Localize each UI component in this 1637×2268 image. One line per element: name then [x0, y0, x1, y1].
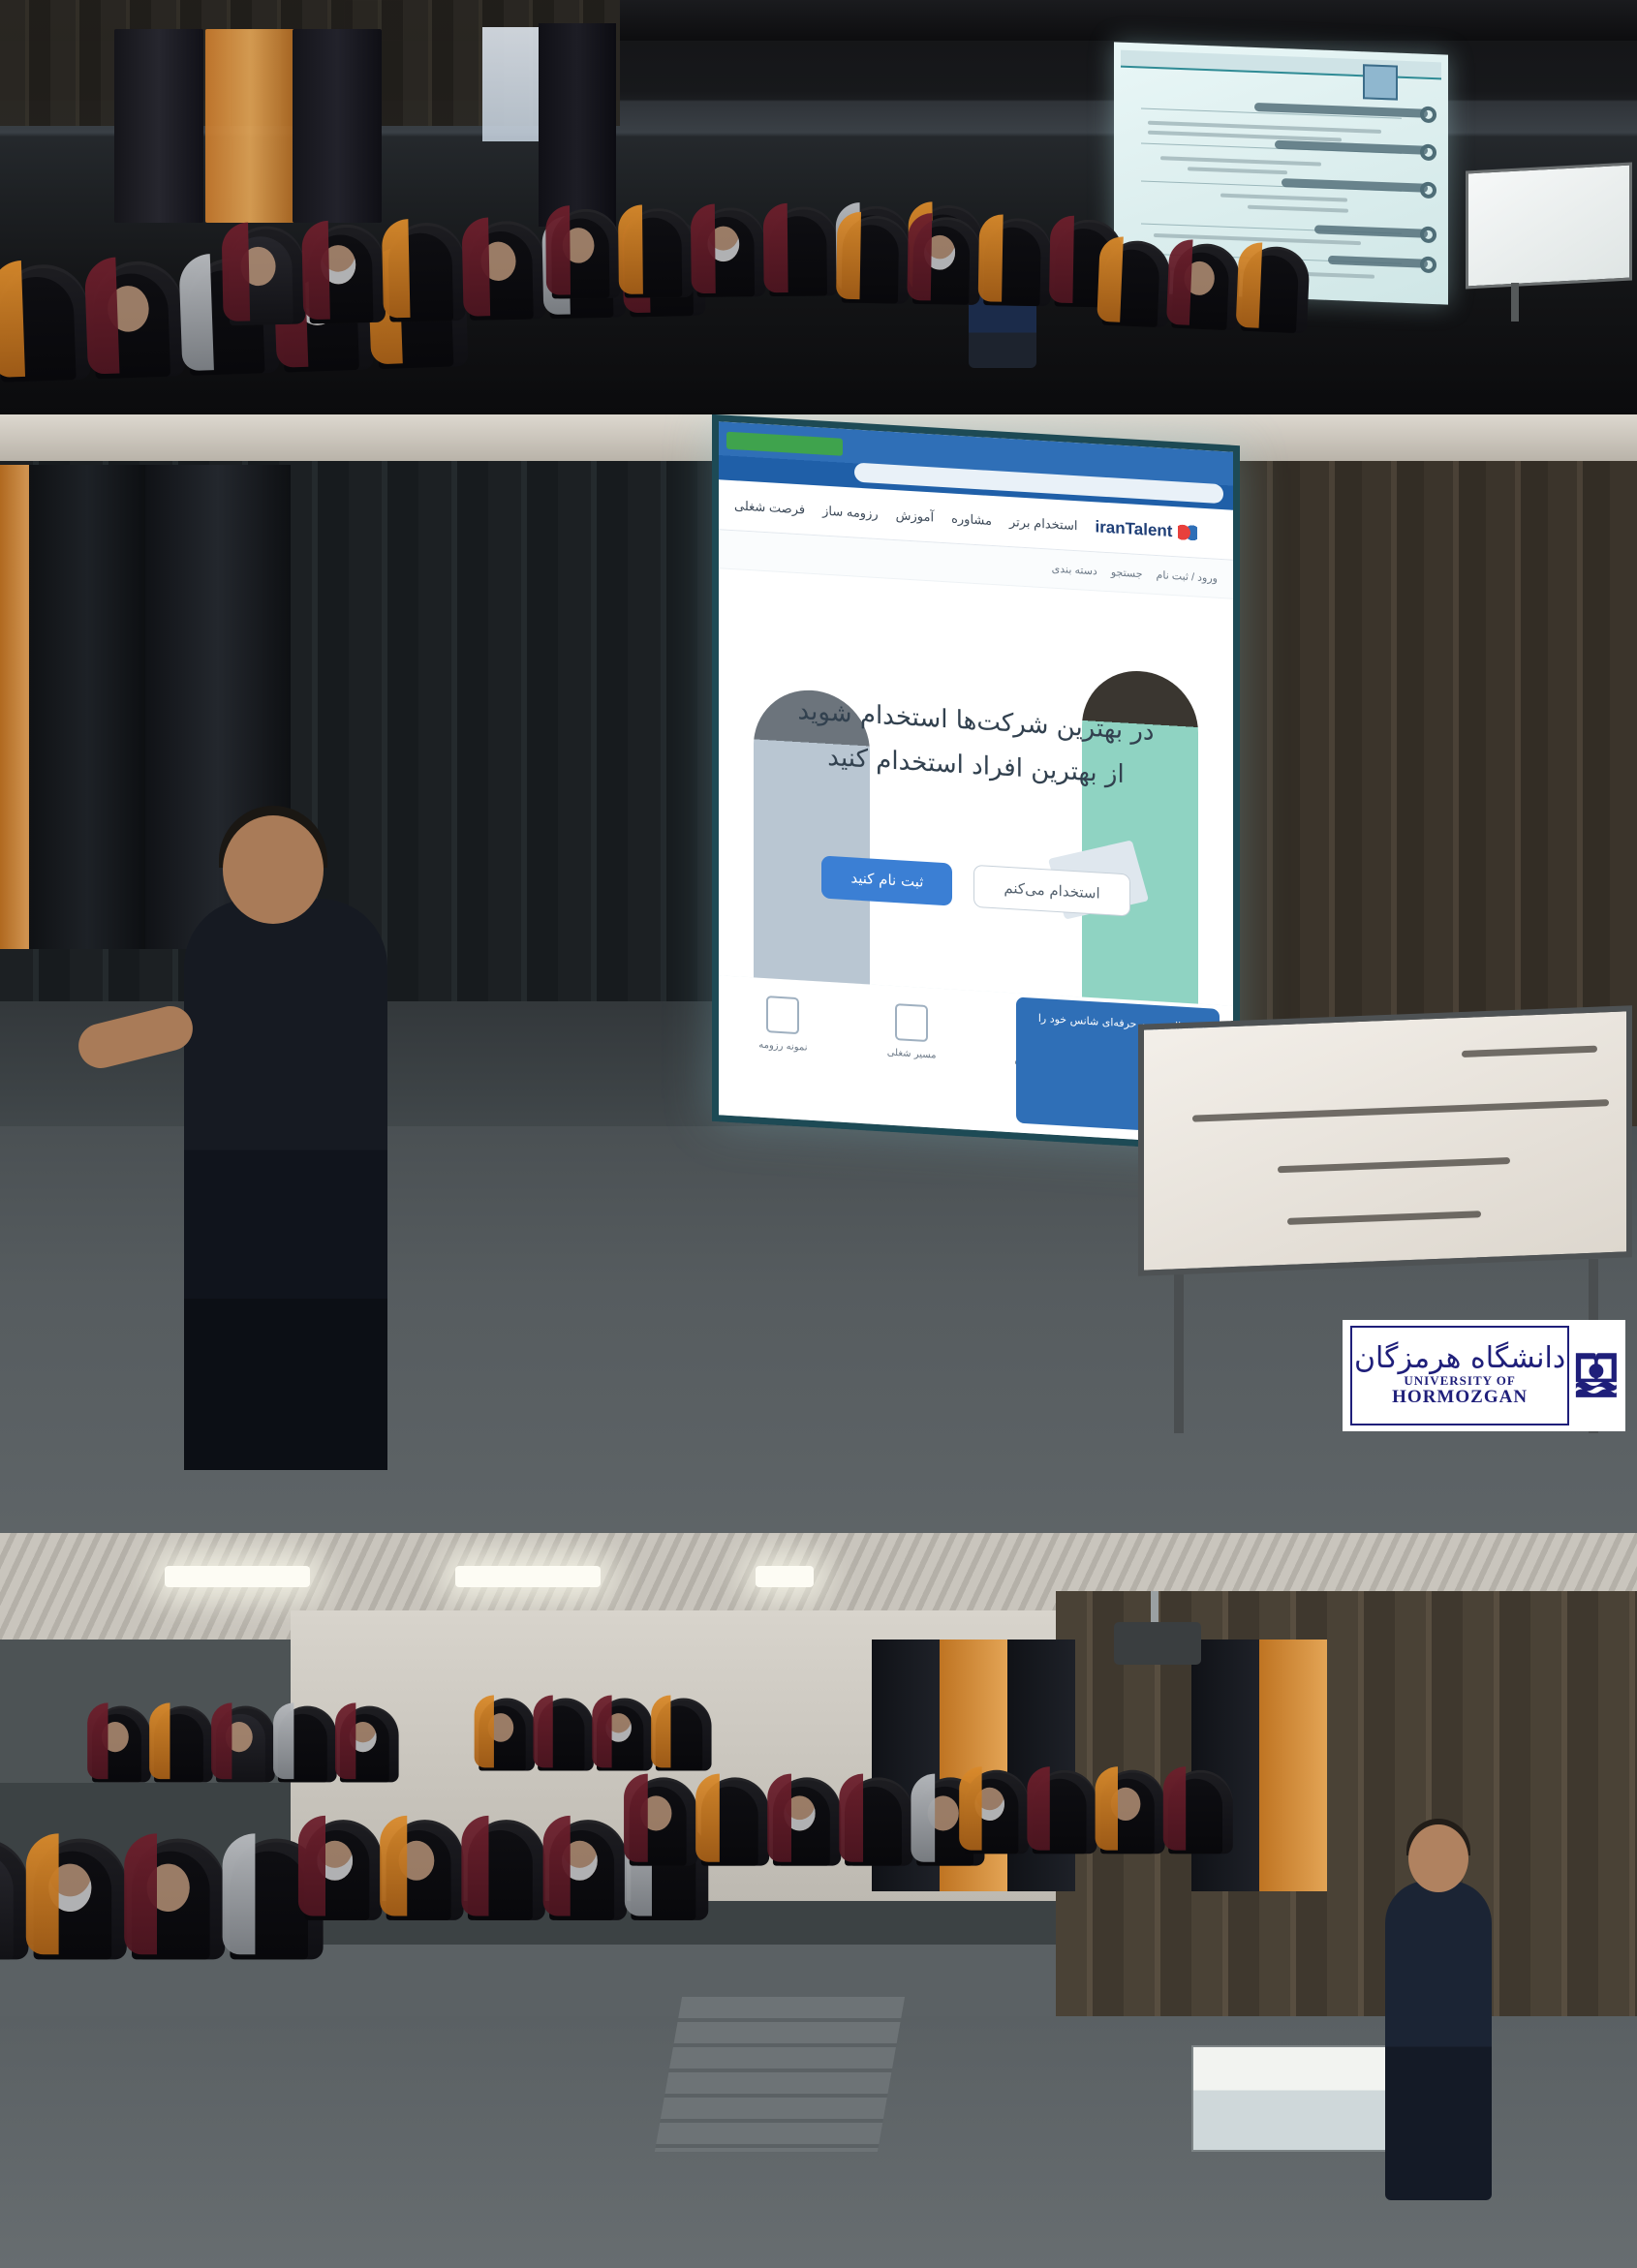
logo-wordmark: دانشگاه هرمزگان UNIVERSITY OF HORMOZGAN: [1350, 1326, 1569, 1425]
projector-arm: [1151, 1591, 1158, 1626]
secondary-cta-button[interactable]: استخدام می‌کنم: [973, 865, 1129, 917]
curtain: [114, 29, 203, 223]
whiteboard-stand: [1511, 283, 1519, 322]
whiteboard-leg: [1174, 1259, 1184, 1433]
photo-panel-top: Lecture hall seen from the back: rows of…: [0, 0, 1637, 414]
feature-icon: [766, 996, 799, 1034]
feature-icon: [895, 1003, 928, 1042]
primary-cta-button[interactable]: ثبت نام کنید: [821, 856, 952, 906]
ceiling-light: [455, 1566, 601, 1587]
seat-row: [92, 1706, 402, 1783]
hero-section: در بهترین شرکت‌ها استخدام شوید از بهترین…: [719, 568, 1233, 1006]
curtain-orange: [205, 29, 294, 223]
top-scene: Lecture hall seen from the back: rows of…: [0, 0, 1637, 414]
browser-tab[interactable]: [726, 432, 843, 456]
university-of-hormozgan-logo: دانشگاه هرمزگان UNIVERSITY OF HORMOZGAN: [1343, 1320, 1625, 1431]
irantalent-mark-icon: [1178, 524, 1197, 540]
feature-item[interactable]: نمونه رزومه: [739, 994, 826, 1054]
nav-item[interactable]: آموزش: [896, 507, 934, 525]
ceiling-light: [756, 1566, 814, 1587]
logo-english-line2: HORMOZGAN: [1392, 1388, 1528, 1407]
ceiling-light: [165, 1566, 310, 1587]
speaker-figure: [184, 899, 387, 1470]
nav-item[interactable]: رزومه ساز: [822, 503, 879, 521]
curtain-orange: [1259, 1640, 1327, 1891]
speaker-head: [223, 815, 324, 924]
seat-row: [1102, 239, 1314, 333]
open-book-emblem-icon: [1575, 1326, 1618, 1425]
bottom-scene: Wide view of the filled auditorium durin…: [0, 1533, 1637, 2268]
seat-row: [0, 1839, 328, 1960]
curtain: [293, 29, 382, 223]
photo-collage: Lecture hall seen from the back: rows of…: [0, 0, 1637, 2268]
irantalent-logo[interactable]: iranTalent: [1095, 517, 1197, 542]
logo-english-line1: UNIVERSITY OF: [1404, 1374, 1515, 1388]
seat-row: [479, 1699, 714, 1771]
whiteboard: [1138, 1005, 1632, 1276]
nav-item[interactable]: مشاوره: [951, 510, 992, 528]
ceiling-projector: [1114, 1622, 1201, 1665]
nav-item[interactable]: استخدام برتر: [1009, 514, 1078, 534]
curtain: [539, 23, 616, 227]
irantalent-brand-label: iranTalent: [1095, 517, 1172, 541]
profile-avatar: [1363, 64, 1398, 100]
presenter-head: [1408, 1824, 1468, 1892]
seat-row: [965, 1770, 1237, 1854]
presenter-figure: [1385, 1881, 1492, 2200]
seat-row: [630, 1777, 989, 1865]
photo-panel-bottom: Wide view of the filled auditorium durin…: [0, 1533, 1637, 2268]
subnav-item[interactable]: ورود / ثبت نام: [1157, 568, 1218, 585]
curtain: [29, 465, 145, 949]
nav-item[interactable]: فرصت شغلی: [734, 498, 805, 517]
subnav-item[interactable]: جستجو: [1111, 566, 1143, 580]
aisle-steps: [655, 1997, 905, 2152]
feature-item[interactable]: مسیر شغلی: [868, 1001, 955, 1061]
whiteboard: [1466, 162, 1632, 289]
seat-row: [842, 215, 1127, 307]
window: [482, 27, 539, 141]
feature-label: مسیر شغلی: [887, 1048, 937, 1061]
logo-persian-name: دانشگاه هرمزگان: [1354, 1344, 1565, 1373]
feature-label: نمونه رزومه: [758, 1040, 807, 1054]
subnav-item[interactable]: دسته بندی: [1052, 563, 1097, 578]
speaker-hand: [74, 1001, 198, 1073]
hero-headline-line2: از بهترین افراد استخدام کنید: [827, 742, 1124, 788]
